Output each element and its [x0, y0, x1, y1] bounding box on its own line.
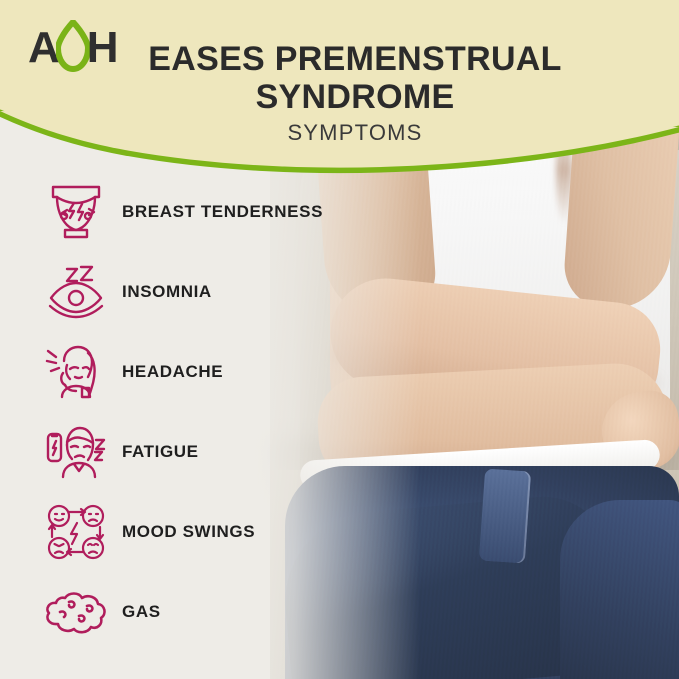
header-text-block: EASES PREMENSTRUAL SYNDROME SYMPTOMS [120, 40, 590, 146]
gas-cloud-icon [36, 577, 116, 647]
list-item: MOOD SWINGS [36, 492, 336, 572]
fatigue-battery-icon [36, 417, 116, 487]
headache-icon [36, 337, 116, 407]
poster: A H EASES PREMENSTRUAL SYNDROME SYMPTOMS [0, 0, 679, 679]
page-subtitle: SYMPTOMS [120, 120, 590, 146]
list-item: FATIGUE [36, 412, 336, 492]
page-title: EASES PREMENSTRUAL SYNDROME [120, 40, 590, 116]
title-line-2: SYNDROME [120, 78, 590, 116]
brand-logo[interactable]: A H [28, 20, 118, 76]
mood-swings-icon [36, 497, 116, 567]
logo-letter-h: H [87, 26, 118, 70]
insomnia-eye-icon [36, 257, 116, 327]
leaf-icon [56, 20, 90, 77]
symptom-list: BREAST TENDERNESS INSOMNIA [36, 172, 336, 652]
logo-letter-a: A [28, 26, 59, 70]
symptom-label: MOOD SWINGS [116, 522, 255, 542]
title-line-1: EASES PREMENSTRUAL [120, 40, 590, 78]
symptom-label: GAS [116, 602, 161, 622]
breast-tenderness-icon [36, 177, 116, 247]
symptom-label: FATIGUE [116, 442, 199, 462]
symptom-label: HEADACHE [116, 362, 223, 382]
list-item: HEADACHE [36, 332, 336, 412]
list-item: INSOMNIA [36, 252, 336, 332]
list-item: GAS [36, 572, 336, 652]
symptom-label: INSOMNIA [116, 282, 212, 302]
list-item: BREAST TENDERNESS [36, 172, 336, 252]
symptom-label: BREAST TENDERNESS [116, 202, 323, 222]
